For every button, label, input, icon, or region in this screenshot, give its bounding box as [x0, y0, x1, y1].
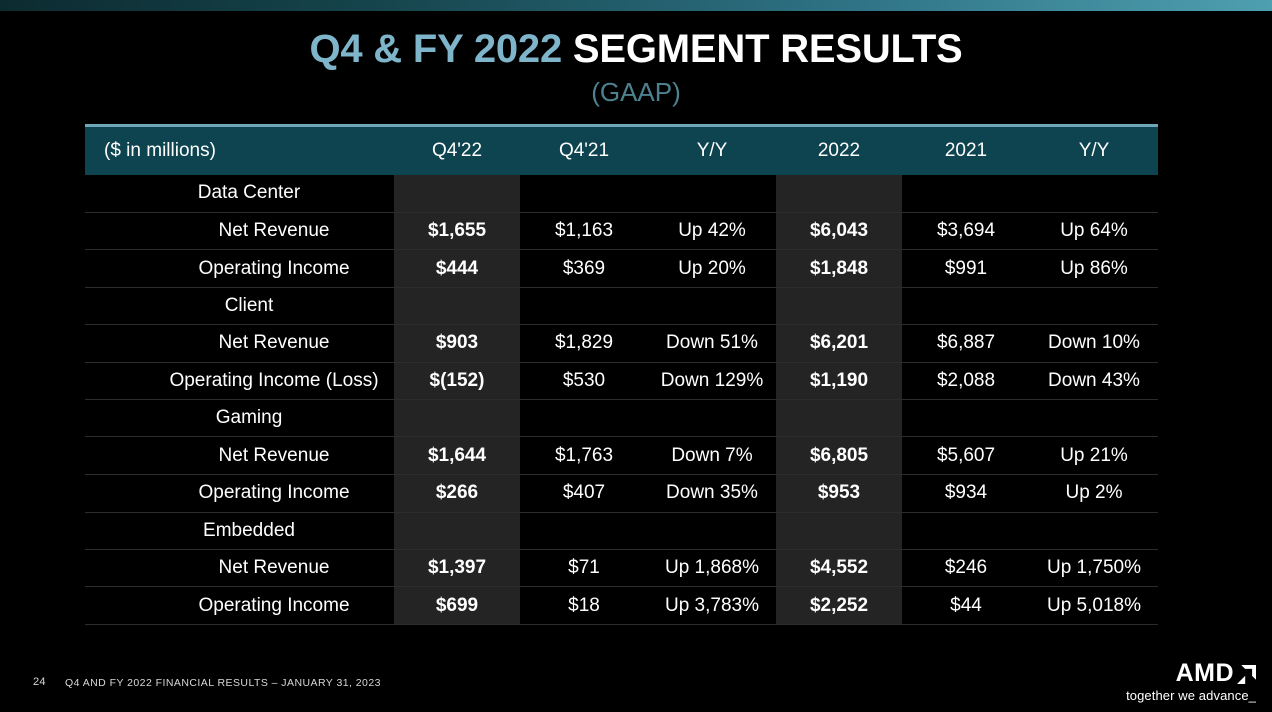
table-cell: $1,397	[394, 549, 520, 587]
table-cell: Down 51%	[648, 324, 776, 362]
amd-logo: AMD together we advance_	[1126, 660, 1256, 704]
table-header-row: ($ in millions) Q4'22 Q4'21 Y/Y 2022 202…	[85, 127, 1158, 175]
section-spacer-cell	[902, 512, 1030, 549]
table-cell: $6,201	[776, 324, 902, 362]
table-cell: $1,763	[520, 437, 648, 475]
section-spacer-cell	[520, 400, 648, 437]
table-cell: Up 21%	[1030, 437, 1158, 475]
amd-arrow-icon	[1237, 665, 1256, 684]
section-row: Embedded	[85, 512, 1158, 549]
section-spacer-cell	[1030, 287, 1158, 324]
top-accent-bar	[0, 0, 1272, 11]
row-label: Operating Income	[85, 250, 394, 288]
table-cell: $1,190	[776, 362, 902, 400]
table-cell: Down 43%	[1030, 362, 1158, 400]
table-cell: Down 7%	[648, 437, 776, 475]
section-row: Gaming	[85, 400, 1158, 437]
table-cell: $2,088	[902, 362, 1030, 400]
table-cell: $1,848	[776, 250, 902, 288]
section-spacer-cell	[1030, 512, 1158, 549]
table-cell: Up 3,783%	[648, 587, 776, 625]
table-cell: $44	[902, 587, 1030, 625]
table-cell: Up 5,018%	[1030, 587, 1158, 625]
table-cell: Down 129%	[648, 362, 776, 400]
table-cell: $266	[394, 474, 520, 512]
row-label: Net Revenue	[85, 549, 394, 587]
table-cell: Up 64%	[1030, 212, 1158, 250]
table-row: Operating Income$444$369Up 20%$1,848$991…	[85, 250, 1158, 288]
section-spacer-cell	[1030, 400, 1158, 437]
table-cell: $6,043	[776, 212, 902, 250]
table-cell: $1,163	[520, 212, 648, 250]
section-row: Data Center	[85, 175, 1158, 212]
segment-results-table-wrap: ($ in millions) Q4'22 Q4'21 Y/Y 2022 202…	[85, 124, 1158, 625]
table-cell: Up 1,750%	[1030, 549, 1158, 587]
page-subtitle: (GAAP)	[0, 76, 1272, 108]
section-spacer-cell	[776, 287, 902, 324]
row-label: Net Revenue	[85, 212, 394, 250]
table-cell: $1,829	[520, 324, 648, 362]
table-cell: $5,607	[902, 437, 1030, 475]
table-row: Operating Income$266$407Down 35%$953$934…	[85, 474, 1158, 512]
section-spacer-cell	[776, 512, 902, 549]
section-label: Client	[85, 287, 394, 324]
table-cell: $6,887	[902, 324, 1030, 362]
table-cell: $903	[394, 324, 520, 362]
section-spacer-cell	[648, 512, 776, 549]
section-label: Embedded	[85, 512, 394, 549]
table-row: Net Revenue$1,655$1,163Up 42%$6,043$3,69…	[85, 212, 1158, 250]
section-spacer-cell	[776, 400, 902, 437]
table-cell: $530	[520, 362, 648, 400]
section-spacer-cell	[394, 400, 520, 437]
footer-page-number: 24	[33, 676, 46, 688]
table-cell: $6,805	[776, 437, 902, 475]
section-spacer-cell	[902, 175, 1030, 212]
section-spacer-cell	[648, 175, 776, 212]
row-label: Net Revenue	[85, 324, 394, 362]
column-header-q4-22: Q4'22	[394, 127, 520, 175]
slide-canvas: Q4 & FY 2022 SEGMENT RESULTS (GAAP) ($ i…	[0, 0, 1272, 712]
table-cell: Up 20%	[648, 250, 776, 288]
column-header-label: ($ in millions)	[85, 127, 394, 175]
table-cell: $2,252	[776, 587, 902, 625]
section-spacer-cell	[520, 512, 648, 549]
table-cell: $71	[520, 549, 648, 587]
column-header-2022: 2022	[776, 127, 902, 175]
column-header-yy-annual: Y/Y	[1030, 127, 1158, 175]
table-cell: Up 86%	[1030, 250, 1158, 288]
title-accent-text: Q4 & FY 2022	[309, 27, 562, 71]
table-cell: Down 35%	[648, 474, 776, 512]
table-cell: Up 42%	[648, 212, 776, 250]
column-header-yy-quarter: Y/Y	[648, 127, 776, 175]
section-spacer-cell	[394, 287, 520, 324]
table-row: Operating Income (Loss)$(152)$530Down 12…	[85, 362, 1158, 400]
table-cell: $407	[520, 474, 648, 512]
table-cell: $369	[520, 250, 648, 288]
page-title: Q4 & FY 2022 SEGMENT RESULTS	[0, 24, 1272, 74]
section-label: Data Center	[85, 175, 394, 212]
table-cell: $444	[394, 250, 520, 288]
table-cell: $4,552	[776, 549, 902, 587]
column-header-2021: 2021	[902, 127, 1030, 175]
table-cell: $991	[902, 250, 1030, 288]
section-spacer-cell	[902, 400, 1030, 437]
row-label: Operating Income	[85, 587, 394, 625]
title-main-inner: SEGMENT RESULTS	[573, 27, 963, 71]
section-spacer-cell	[394, 175, 520, 212]
footer-deck-title: Q4 AND FY 2022 FINANCIAL RESULTS – JANUA…	[65, 677, 381, 689]
section-label: Gaming	[85, 400, 394, 437]
section-spacer-cell	[520, 175, 648, 212]
table-cell: $1,655	[394, 212, 520, 250]
row-label: Operating Income	[85, 474, 394, 512]
table-cell: $953	[776, 474, 902, 512]
table-cell: $3,694	[902, 212, 1030, 250]
table-cell: Up 2%	[1030, 474, 1158, 512]
table-cell: $18	[520, 587, 648, 625]
section-spacer-cell	[648, 400, 776, 437]
table-row: Net Revenue$903$1,829Down 51%$6,201$6,88…	[85, 324, 1158, 362]
section-spacer-cell	[520, 287, 648, 324]
table-cell: $1,644	[394, 437, 520, 475]
segment-results-table: ($ in millions) Q4'22 Q4'21 Y/Y 2022 202…	[85, 127, 1158, 625]
row-label: Net Revenue	[85, 437, 394, 475]
title-block: Q4 & FY 2022 SEGMENT RESULTS (GAAP)	[0, 24, 1272, 108]
section-spacer-cell	[776, 175, 902, 212]
amd-wordmark: AMD	[1126, 660, 1256, 686]
section-spacer-cell	[648, 287, 776, 324]
table-row: Net Revenue$1,644$1,763Down 7%$6,805$5,6…	[85, 437, 1158, 475]
table-cell: Down 10%	[1030, 324, 1158, 362]
section-spacer-cell	[902, 287, 1030, 324]
table-row: Operating Income$699$18Up 3,783%$2,252$4…	[85, 587, 1158, 625]
table-cell: $934	[902, 474, 1030, 512]
amd-tagline: together we advance_	[1126, 687, 1256, 704]
title-main-text: SEGMENT RESULTS	[562, 27, 963, 71]
table-header: ($ in millions) Q4'22 Q4'21 Y/Y 2022 202…	[85, 127, 1158, 175]
table-body: Data Center Net Revenue$1,655$1,163Up 42…	[85, 175, 1158, 625]
section-row: Client	[85, 287, 1158, 324]
row-label: Operating Income (Loss)	[85, 362, 394, 400]
section-spacer-cell	[1030, 175, 1158, 212]
column-header-q4-21: Q4'21	[520, 127, 648, 175]
amd-wordmark-text: AMD	[1176, 660, 1234, 686]
table-cell: $(152)	[394, 362, 520, 400]
table-cell: $699	[394, 587, 520, 625]
table-cell: Up 1,868%	[648, 549, 776, 587]
section-spacer-cell	[394, 512, 520, 549]
table-cell: $246	[902, 549, 1030, 587]
table-row: Net Revenue$1,397$71Up 1,868%$4,552$246U…	[85, 549, 1158, 587]
